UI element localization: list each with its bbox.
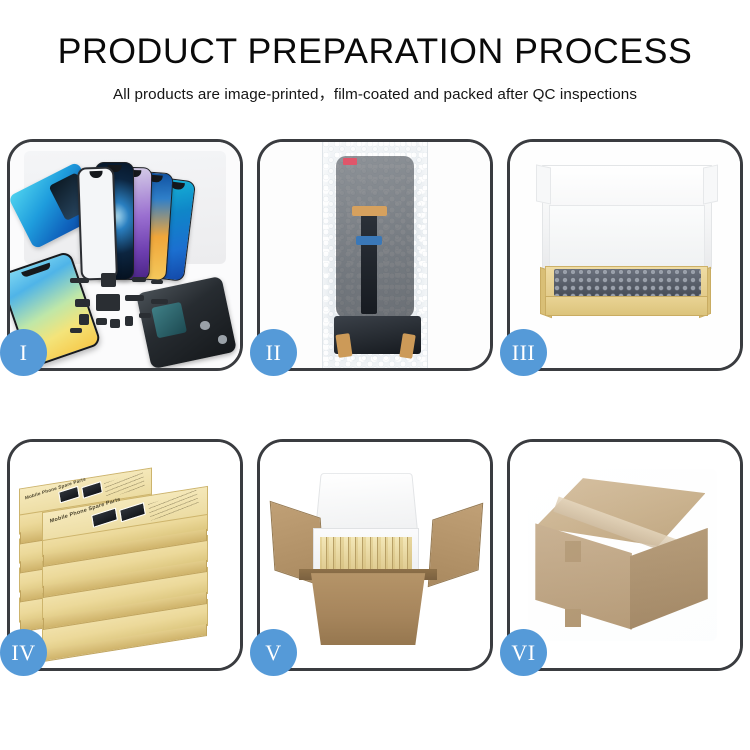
step-badge-5: V — [250, 629, 297, 676]
screws-group — [199, 318, 236, 350]
foam-sheet — [549, 205, 705, 273]
process-step-panel-1[interactable]: I — [7, 139, 243, 371]
bubble-wrap-scene — [260, 142, 490, 368]
component-part — [125, 316, 133, 326]
box-spec-list — [105, 471, 146, 498]
component-part — [132, 277, 146, 282]
carton-body — [306, 573, 430, 645]
component-part — [79, 314, 89, 325]
process-step-panel-2[interactable]: II — [257, 139, 493, 371]
carton-tab — [565, 609, 581, 627]
component-part — [151, 299, 168, 304]
component-part — [101, 273, 117, 287]
component-part — [96, 294, 120, 311]
step-badge-2: II — [250, 329, 297, 376]
flex-cable — [361, 214, 377, 313]
product-preparation-process-page: PRODUCT PREPARATION PROCESS All products… — [0, 0, 750, 750]
box-spec-list — [149, 489, 200, 521]
component-part — [75, 299, 91, 307]
component-part — [151, 280, 163, 284]
process-step-panel-4[interactable]: Mobile Phone Spare Parts Mobile Phone Sp… — [7, 439, 243, 671]
stacked-boxes-scene: Mobile Phone Spare Parts Mobile Phone Sp… — [10, 442, 240, 668]
step-5-image — [260, 442, 490, 668]
page-subtitle: All products are image-printed，film-coat… — [0, 82, 750, 104]
page-header: PRODUCT PREPARATION PROCESS All products… — [0, 0, 750, 104]
component-part — [96, 318, 107, 326]
component-part — [70, 328, 82, 333]
wrapped-contents — [554, 269, 701, 296]
component-part — [139, 313, 151, 318]
step-2-image — [260, 142, 490, 368]
sealed-carton-scene — [510, 442, 740, 668]
carton-foam-scene — [260, 442, 490, 668]
process-step-panel-5[interactable]: V — [257, 439, 493, 671]
box-phone-graphic — [119, 502, 145, 522]
step-4-image: Mobile Phone Spare Parts Mobile Phone Sp… — [10, 442, 240, 668]
component-part — [125, 295, 144, 301]
red-tab-marker — [343, 158, 357, 165]
box-phone-graphic — [81, 482, 102, 499]
open-inner-box-scene — [510, 142, 740, 368]
step-badge-6: VI — [500, 629, 547, 676]
spare-parts-scene — [10, 142, 240, 368]
component-part — [110, 319, 120, 328]
carton-tab — [565, 541, 581, 561]
process-step-grid: I II — [7, 139, 743, 671]
foam-lid — [314, 473, 417, 532]
step-1-image — [10, 142, 240, 368]
page-title: PRODUCT PREPARATION PROCESS — [0, 34, 750, 71]
phone-screen-fan — [93, 162, 226, 280]
phone-screen-1 — [78, 166, 119, 280]
step-badge-4: IV — [0, 629, 47, 676]
notch-icon — [90, 171, 104, 178]
process-step-panel-6[interactable]: VI — [507, 439, 743, 671]
process-step-panel-3[interactable]: III — [507, 139, 743, 371]
step-badge-3: III — [500, 329, 547, 376]
connector-assembly — [334, 316, 421, 354]
kraft-tray-front — [545, 296, 708, 316]
small-components-group — [70, 273, 190, 359]
component-part — [70, 278, 89, 282]
step-3-image — [510, 142, 740, 368]
step-6-image — [510, 442, 740, 668]
step-badge-1: I — [0, 329, 47, 376]
